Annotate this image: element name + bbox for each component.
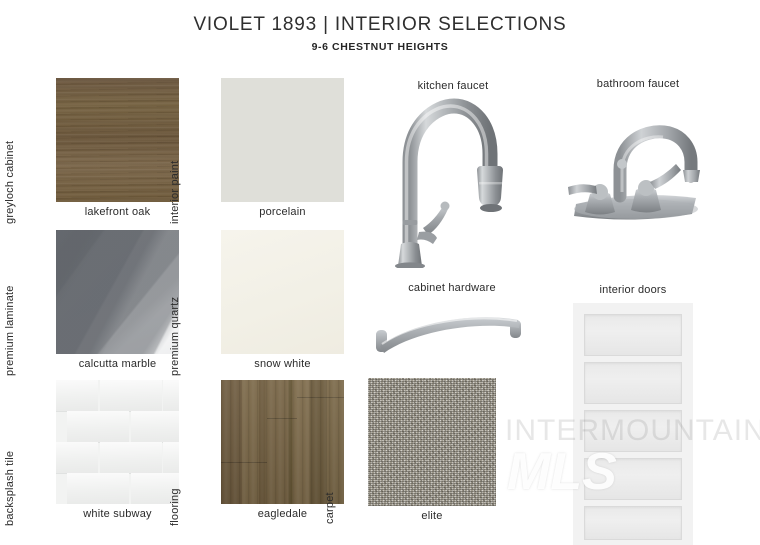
swatch-card-premium-quartz: premium quartz snow white: [181, 230, 351, 380]
subway-tile: [67, 411, 129, 443]
page-subtitle: 9-6 CHESTNUT HEIGHTS: [0, 41, 760, 53]
swatch-name-label: lakefront oak: [56, 206, 179, 218]
plank-seam: [221, 462, 267, 463]
swatch-name-label: snow white: [221, 358, 344, 370]
product-label: bathroom faucet: [548, 78, 728, 90]
product-label: kitchen faucet: [378, 80, 528, 92]
product-card-bathroom-faucet: bathroom faucet: [548, 78, 728, 238]
product-card-kitchen-faucet: kitchen faucet: [378, 80, 528, 270]
swatch-image-snow-white: [221, 230, 344, 354]
plank-seam: [267, 418, 297, 419]
swatch-card-premium-laminate: premium laminate calcutta marble: [16, 230, 186, 380]
door-panel: [584, 362, 682, 404]
door-panel: [584, 458, 682, 500]
subway-tile: [67, 473, 129, 504]
bathroom-faucet-icon: [548, 96, 728, 236]
swatch-category-label: interior paint: [169, 102, 181, 226]
tile-row: [67, 411, 179, 442]
swatch-image-calcutta-marble: [56, 230, 179, 354]
kitchen-faucet-icon: [378, 96, 528, 268]
swatch-image-white-subway: [56, 380, 179, 504]
subway-tile: [56, 380, 98, 412]
subway-tile: [56, 442, 98, 474]
swatch-category-label: carpet: [324, 402, 336, 526]
tile-row: [67, 473, 179, 504]
tile-row: [56, 442, 179, 473]
door-panel: [584, 314, 682, 356]
swatch-category-label: backsplash tile: [4, 404, 16, 528]
door-panel: [584, 506, 682, 540]
swatch-name-label: porcelain: [221, 206, 344, 218]
product-card-interior-doors: interior doors: [573, 284, 693, 304]
subway-tile: [100, 442, 162, 474]
swatch-category-label: premium laminate: [4, 254, 16, 378]
swatch-name-label: calcutta marble: [56, 358, 179, 370]
interior-door-icon: [573, 303, 693, 545]
swatch-card-backsplash-tile: backsplash tile white subway: [16, 380, 186, 530]
swatch-category-label: flooring: [169, 404, 181, 528]
swatch-category-label: premium quartz: [169, 254, 181, 378]
swatch-name-label: white subway: [56, 508, 179, 520]
cabinet-pull-icon: [362, 302, 542, 362]
swatch-name-label: elite: [368, 510, 496, 522]
page-title: VIOLET 1893 | INTERIOR SELECTIONS: [0, 14, 760, 36]
tile-row: [56, 380, 179, 411]
swatch-image-elite: [368, 378, 496, 506]
swatch-image-lakefront-oak: [56, 78, 179, 202]
swatch-card-interior-paint: interior paint porcelain: [181, 78, 351, 228]
subway-tile: [100, 380, 162, 412]
product-label: interior doors: [563, 284, 703, 296]
product-label: cabinet hardware: [362, 282, 542, 294]
product-card-cabinet-hardware: cabinet hardware: [362, 282, 542, 362]
swatch-category-label: greyloch cabinet: [4, 102, 16, 226]
swatch-card-greyloch-cabinet: greyloch cabinet lakefront oak: [16, 78, 186, 228]
swatch-card-carpet: carpet elite: [336, 378, 521, 528]
swatch-image-porcelain: [221, 78, 344, 202]
page-header: VIOLET 1893 | INTERIOR SELECTIONS 9-6 CH…: [0, 0, 760, 53]
door-panel: [584, 410, 682, 452]
